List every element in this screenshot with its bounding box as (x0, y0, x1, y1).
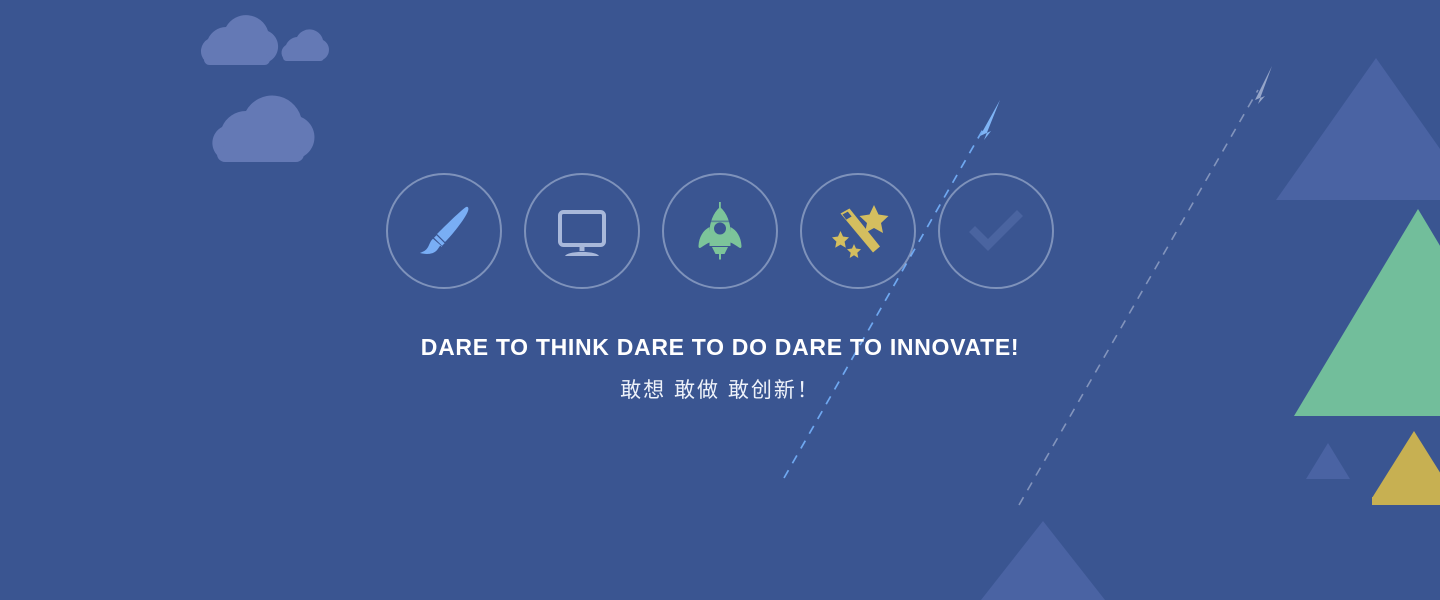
rocket-icon (690, 199, 750, 263)
icon-circle-magic-wand[interactable] (800, 173, 916, 289)
check-mark-icon (961, 196, 1031, 266)
monitor-icon (550, 199, 614, 263)
icon-circle-rocket[interactable] (662, 173, 778, 289)
icon-circle-paint-brush[interactable] (386, 173, 502, 289)
feature-icon-row (0, 172, 1440, 290)
hero-content: DARE TO THINK DARE TO DO DARE TO INNOVAT… (0, 0, 1440, 600)
icon-circle-check-mark[interactable] (938, 173, 1054, 289)
paint-brush-icon (412, 199, 476, 263)
page-title: DARE TO THINK DARE TO DO DARE TO INNOVAT… (0, 330, 1440, 364)
magic-wand-icon (826, 199, 890, 263)
hero-banner: DARE TO THINK DARE TO DO DARE TO INNOVAT… (0, 0, 1440, 600)
icon-circle-monitor[interactable] (524, 173, 640, 289)
page-subtitle: 敢想 敢做 敢创新！ (0, 377, 1440, 405)
hero-text-block: DARE TO THINK DARE TO DO DARE TO INNOVAT… (0, 330, 1440, 405)
